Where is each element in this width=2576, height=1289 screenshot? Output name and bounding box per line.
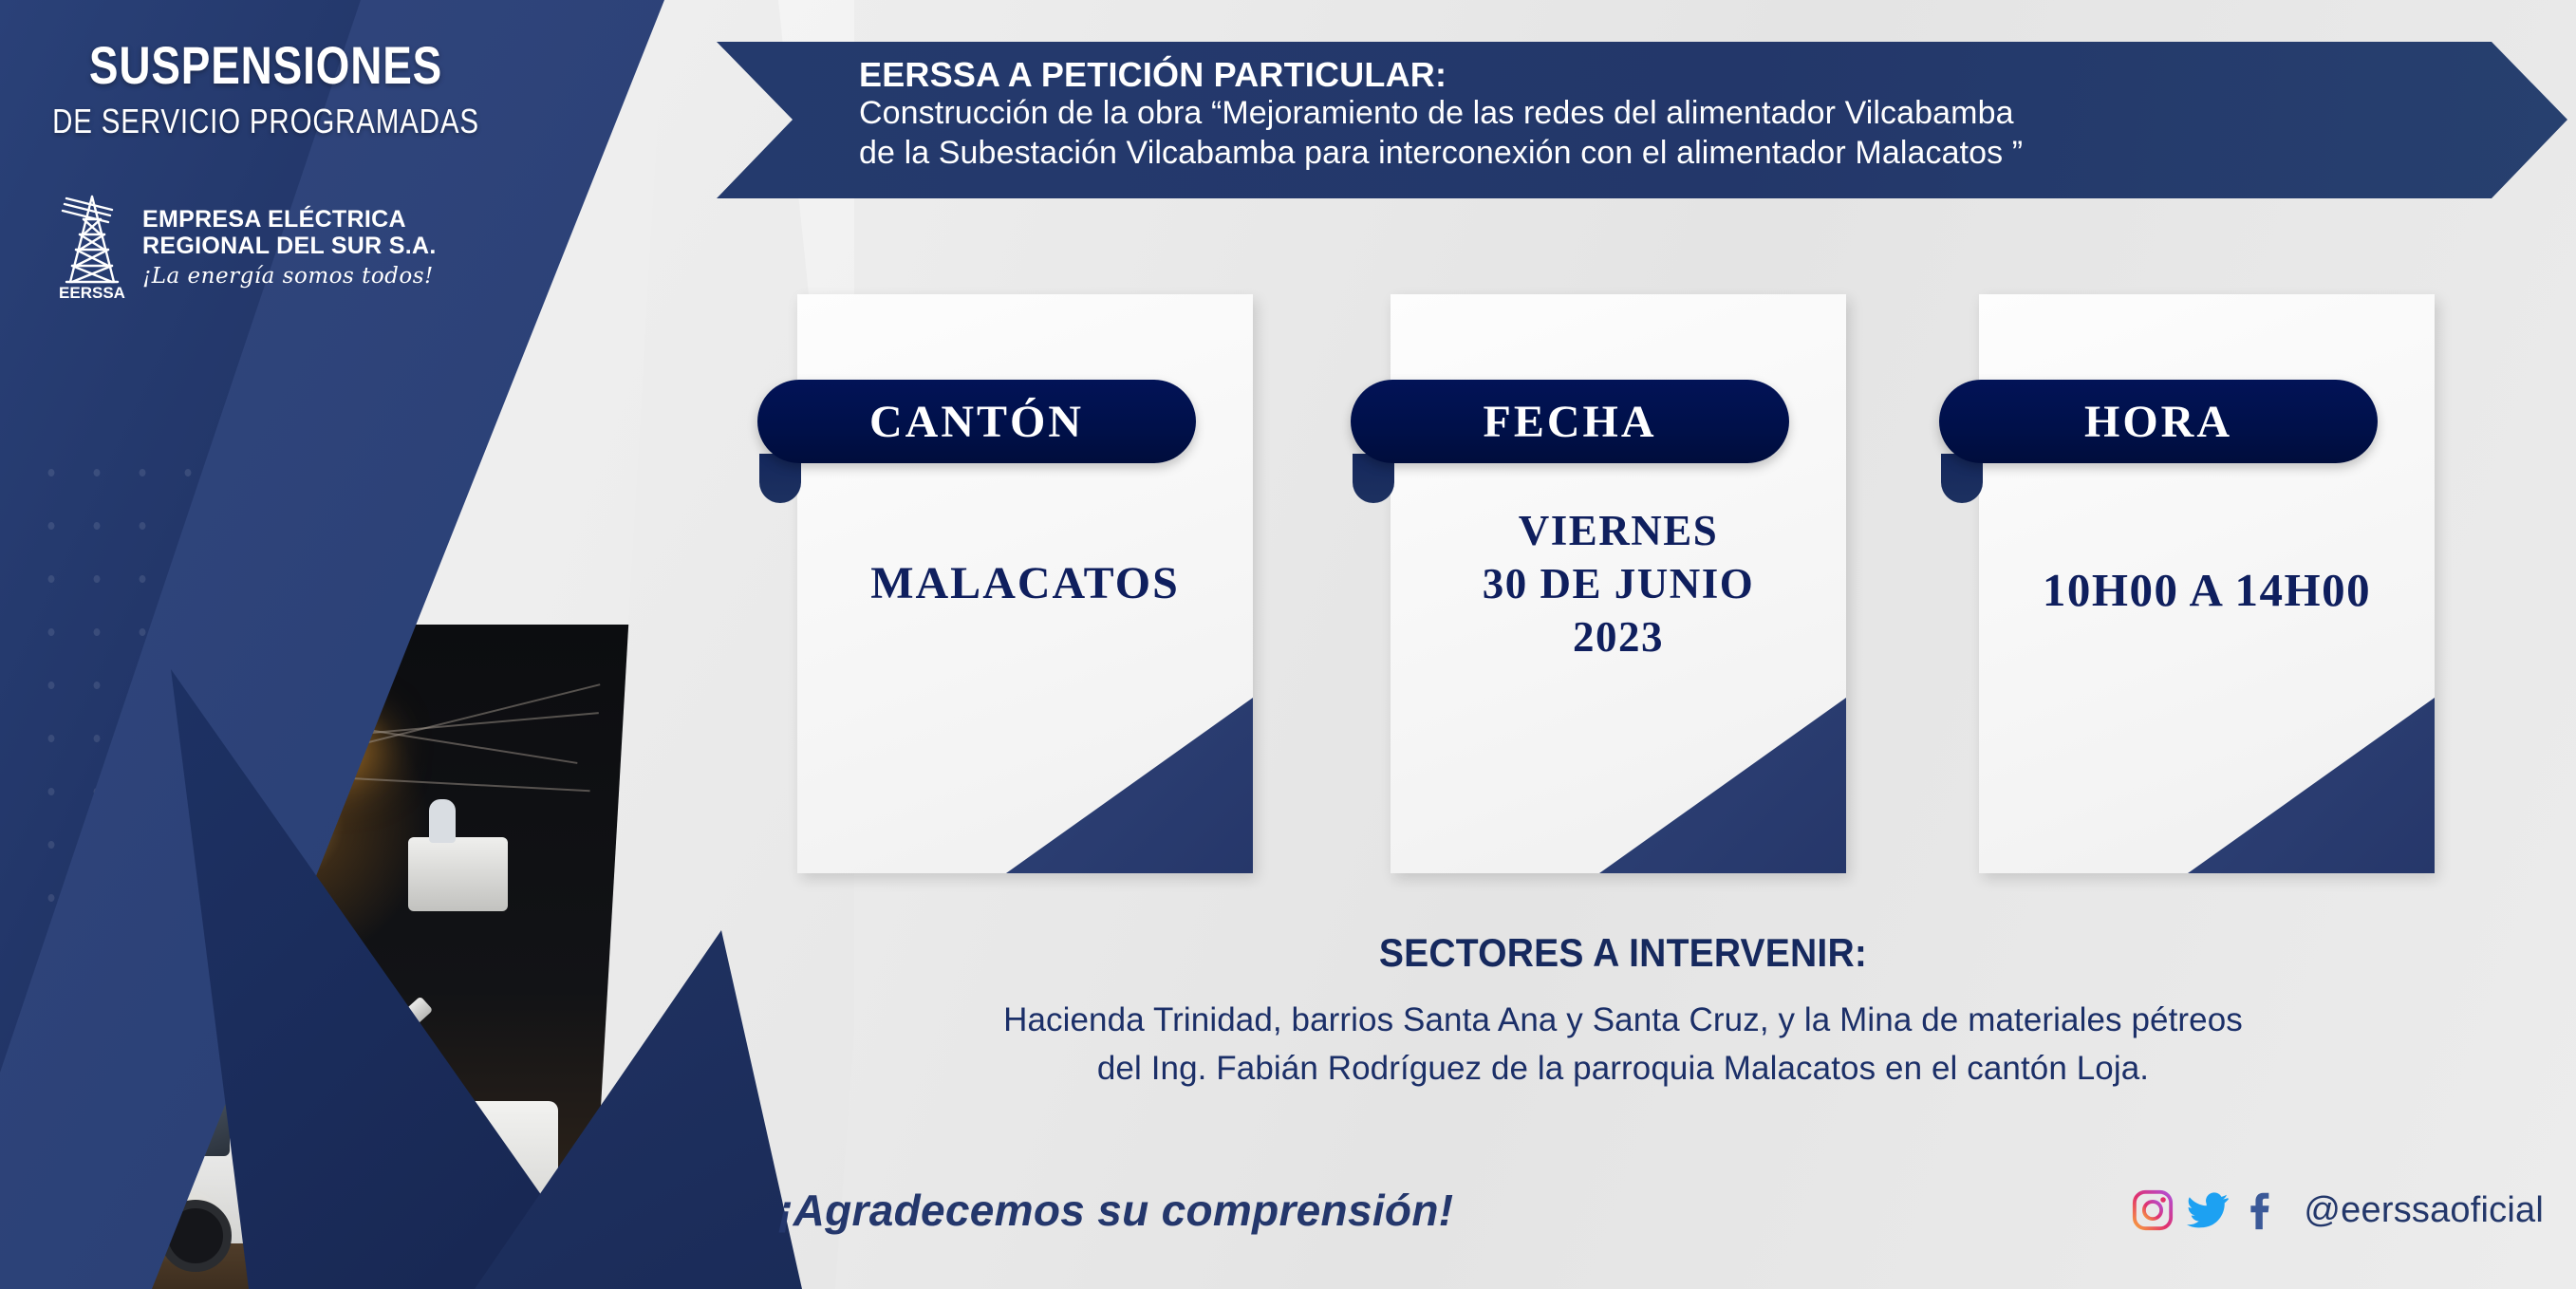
logo-line-1: EMPRESA ELÉCTRICA (142, 206, 437, 233)
logo-line-2: REGIONAL DEL SUR S.A. (142, 233, 437, 259)
suspension-notice-poster: E.E.R.S.S.A. SUSPENSIONES DE SERVICIO PR… (0, 0, 2576, 1289)
banner-title: EERSSA A PETICIÓN PARTICULAR: (859, 55, 2567, 94)
card-canton: MALACATOS (797, 294, 1253, 873)
card-canton-value: MALACATOS (797, 294, 1253, 873)
social-handle[interactable]: @eerssaoficial (2304, 1190, 2544, 1231)
sectors-line-1: Hacienda Trinidad, barrios Santa Ana y S… (721, 997, 2525, 1045)
instagram-icon[interactable] (2131, 1188, 2175, 1232)
facebook-icon[interactable] (2241, 1188, 2285, 1232)
banner-line-2: de la Subestación Vilcabamba para interc… (859, 134, 2567, 173)
sectors-section: SECTORES A INTERVENIR: Hacienda Trinidad… (721, 930, 2525, 1093)
info-cards-row: MALACATOS CANTÓN VIERNES30 DE JUNIO2023 … (0, 285, 2576, 911)
thanks-message: ¡Agradecemos su comprensión! (778, 1185, 1453, 1236)
card-hora-value: 10H00 A 14H00 (1979, 308, 2435, 873)
poster-title: SUSPENSIONES (47, 34, 483, 96)
social-media-row: @eerssaoficial (2131, 1188, 2544, 1232)
card-hora: 10H00 A 14H00 (1979, 294, 2435, 873)
banner-line-1: Construcción de la obra “Mejoramiento de… (859, 94, 2567, 133)
banner-content: EERSSA A PETICIÓN PARTICULAR: Construcci… (717, 42, 2567, 173)
sectors-line-2: del Ing. Fabián Rodríguez de la parroqui… (721, 1045, 2525, 1093)
twitter-icon[interactable] (2186, 1188, 2230, 1232)
poster-subtitle: DE SERVICIO PROGRAMADAS (47, 102, 483, 141)
sectors-title: SECTORES A INTERVENIR: (785, 930, 2462, 976)
card-fecha: VIERNES30 DE JUNIO2023 (1391, 294, 1846, 873)
brand-block: SUSPENSIONES DE SERVICIO PROGRAMADAS EER… (0, 0, 532, 303)
card-fecha-value: VIERNES30 DE JUNIO2023 (1391, 294, 1846, 873)
announcement-banner: EERSSA A PETICIÓN PARTICULAR: Construcci… (717, 42, 2567, 198)
logo-text-block: EMPRESA ELÉCTRICA REGIONAL DEL SUR S.A. … (142, 206, 437, 289)
